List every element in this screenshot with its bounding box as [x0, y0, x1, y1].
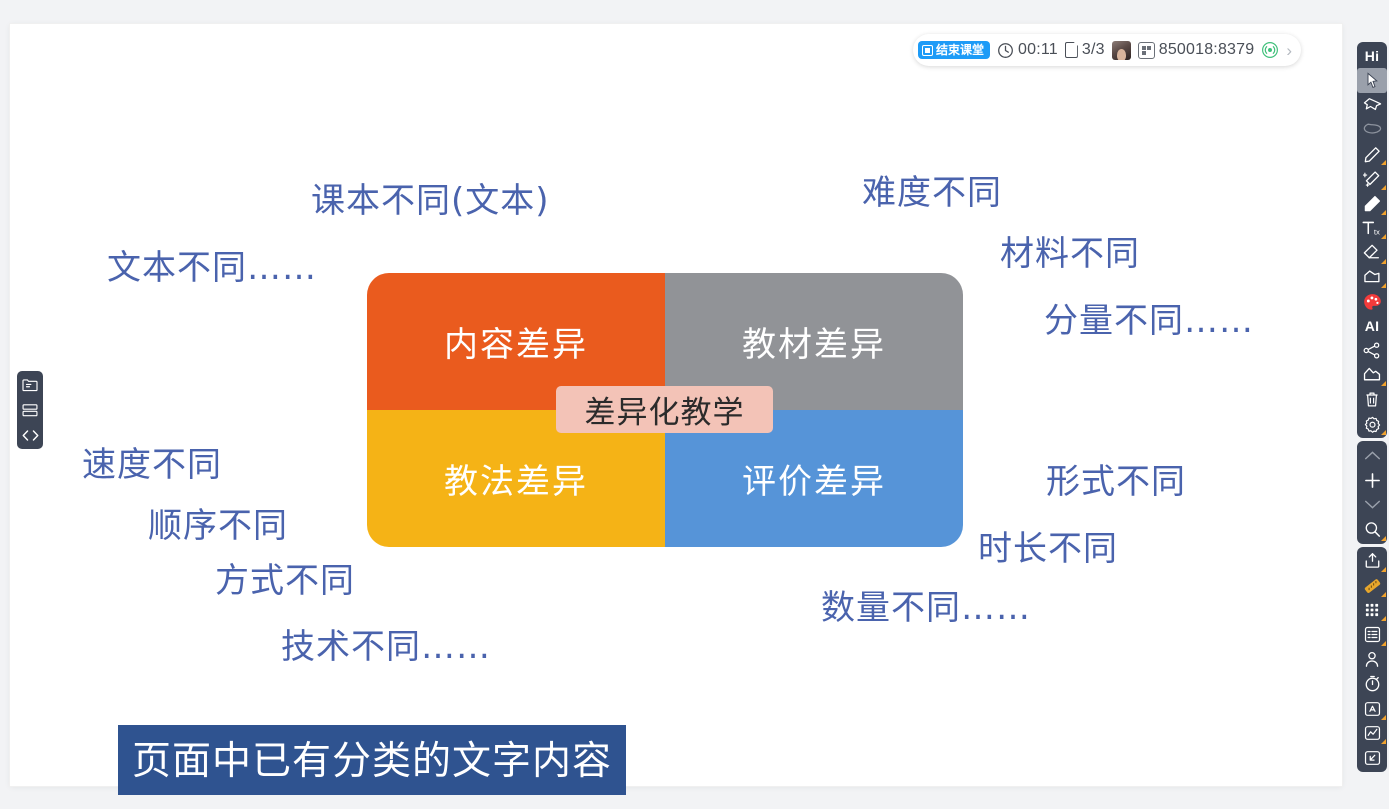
image-upload-icon[interactable]: [1357, 363, 1387, 388]
lasso-outline-icon[interactable]: [1357, 117, 1387, 142]
annotation-note[interactable]: 课本不同(文本): [311, 173, 550, 222]
cursor-select-icon[interactable]: [1357, 68, 1387, 93]
trash-icon[interactable]: [1357, 387, 1387, 412]
tool-group-utilities[interactable]: [1357, 547, 1387, 772]
marker-icon[interactable]: [1357, 191, 1387, 216]
timer-icon[interactable]: [1357, 672, 1387, 697]
user-avatar[interactable]: [1112, 41, 1131, 60]
gear-icon[interactable]: [1357, 412, 1387, 437]
diagram-center-badge[interactable]: 差异化教学: [556, 386, 773, 433]
page-indicator: 3/3: [1065, 41, 1105, 59]
upload-icon[interactable]: [1357, 549, 1387, 574]
tool-badge: [1381, 259, 1386, 264]
ruler-icon[interactable]: [1357, 573, 1387, 598]
quadrant-label: 内容差异: [444, 317, 588, 366]
person-icon[interactable]: [1357, 647, 1387, 672]
room-code-display[interactable]: 850018:8379: [1138, 41, 1255, 59]
quadrant-label: 评价差异: [742, 454, 886, 503]
end-class-label: 结束课堂: [936, 44, 984, 56]
tool-group-navigation[interactable]: [1357, 441, 1387, 543]
annotation-note[interactable]: 材料不同: [1000, 226, 1140, 275]
magic-pen-icon[interactable]: [1357, 166, 1387, 191]
svg-text:tx: tx: [1374, 227, 1380, 236]
tool-badge: [1381, 185, 1386, 190]
plus-icon[interactable]: [1357, 468, 1387, 493]
center-badge-label: 差异化教学: [585, 387, 745, 432]
timer-value: 00:11: [1018, 41, 1058, 59]
answer-card-icon[interactable]: [1357, 696, 1387, 721]
folder-icon[interactable]: [21, 377, 39, 393]
list-icon[interactable]: [1357, 622, 1387, 647]
expand-chevron-icon[interactable]: ›: [1286, 42, 1292, 59]
app-root: 内容差异 教材差异 教法差异 评价差异 差异化教学 课本不同(文本)文本不同………: [0, 0, 1389, 809]
search-icon[interactable]: [1357, 517, 1387, 542]
stop-square-icon: [922, 45, 933, 56]
tool-badge: [1381, 160, 1386, 165]
caption-text: 页面中已有分类的文字内容: [132, 739, 612, 784]
annotation-note[interactable]: 文本不同……: [107, 240, 317, 289]
collapse-icon[interactable]: [1357, 745, 1387, 770]
chart-icon[interactable]: [1357, 721, 1387, 746]
code-icon[interactable]: [21, 427, 39, 443]
tool-badge: [1381, 430, 1386, 435]
qr-code-icon[interactable]: [1138, 42, 1155, 59]
whiteboard-canvas[interactable]: 内容差异 教材差异 教法差异 评价差异 差异化教学 课本不同(文本)文本不同………: [10, 24, 1342, 786]
tool-badge: [1381, 592, 1386, 597]
shape-icon[interactable]: [1357, 265, 1387, 290]
quadrant-label: 教法差异: [444, 454, 588, 503]
annotation-note[interactable]: 技术不同……: [281, 619, 491, 668]
connector-icon[interactable]: [1357, 338, 1387, 363]
annotation-note[interactable]: 难度不同: [862, 165, 1002, 214]
tool-badge: [1381, 283, 1386, 288]
annotation-note[interactable]: 速度不同: [82, 437, 222, 486]
text-tool-icon[interactable]: tx: [1357, 216, 1387, 241]
tool-badge: [1381, 715, 1386, 720]
tool-badge: [1381, 567, 1386, 572]
page-indicator-value: 3/3: [1082, 41, 1105, 59]
tool-badge: [1381, 210, 1386, 215]
tool-badge: [1381, 739, 1386, 744]
chevron-down-icon[interactable]: [1357, 493, 1387, 518]
tool-badge: [1381, 641, 1386, 646]
brand-hi-button[interactable]: Hi: [1357, 44, 1387, 68]
eraser-icon[interactable]: [1357, 240, 1387, 265]
caption-banner[interactable]: 页面中已有分类的文字内容: [118, 725, 626, 795]
right-toolbar[interactable]: Hi: [1357, 42, 1387, 775]
tool-badge: [1381, 616, 1386, 621]
chevron-up-icon[interactable]: [1357, 443, 1387, 468]
tool-badge: [1381, 536, 1386, 541]
annotation-note[interactable]: 时长不同: [978, 521, 1118, 570]
document-icon: [1065, 42, 1078, 58]
annotation-note[interactable]: 分量不同……: [1044, 293, 1254, 342]
annotation-note[interactable]: 方式不同: [215, 553, 355, 602]
ai-icon[interactable]: AI: [1357, 314, 1387, 338]
lasso-icon[interactable]: [1357, 93, 1387, 118]
timer-display: 00:11: [997, 41, 1058, 59]
end-class-button[interactable]: 结束课堂: [918, 41, 990, 59]
class-status-bar[interactable]: 结束课堂 00:11 3/3 850018:8379: [913, 34, 1301, 66]
left-toolbar[interactable]: [17, 371, 43, 449]
tool-group-drawing[interactable]: Hi: [1357, 42, 1387, 438]
annotation-note[interactable]: 数量不同……: [821, 580, 1031, 629]
annotation-note[interactable]: 顺序不同: [148, 498, 288, 547]
room-code-value: 850018:8379: [1159, 41, 1255, 59]
clock-icon: [997, 42, 1014, 59]
annotation-note[interactable]: 形式不同: [1046, 454, 1186, 503]
layers-icon[interactable]: [21, 402, 39, 418]
grid-icon[interactable]: [1357, 598, 1387, 623]
quadrant-label: 教材差异: [742, 317, 886, 366]
tool-badge: [1381, 381, 1386, 386]
pencil-icon[interactable]: [1357, 142, 1387, 167]
tool-badge: [1381, 234, 1386, 239]
brand-label: Hi: [1365, 48, 1380, 64]
broadcast-icon[interactable]: [1261, 41, 1279, 59]
palette-icon[interactable]: [1357, 289, 1387, 314]
